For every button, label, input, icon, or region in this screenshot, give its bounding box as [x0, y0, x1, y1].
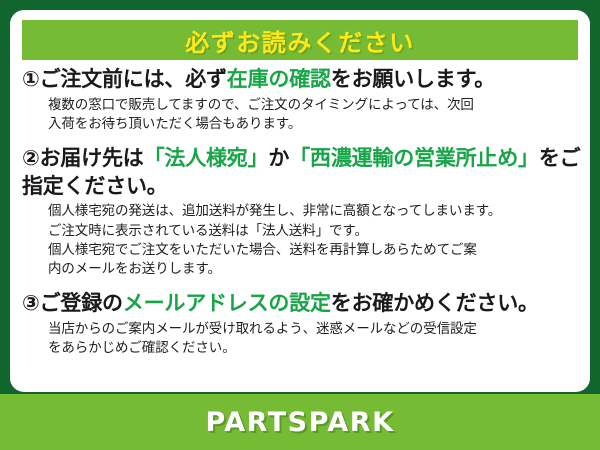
notice-item-3-heading-part-3: をお確かめください。 — [331, 291, 539, 315]
notice-item-2-note: 個人様宅宛の発送は、追加送料が発生し、非常に高額となってしまいます。ご注文時に表… — [20, 202, 582, 279]
notice-item-2-note-line-3: 個人様宅宛でご注文をいただいた場合、送料を再計算しあらためてご案 — [48, 241, 582, 260]
notice-item-1-note: 複数の窓口で販売してますので、ご注文のタイミングによっては、次回入荷をお待ち頂い… — [20, 96, 582, 134]
notice-item-2-heading-part-1: お届け先は — [40, 146, 144, 170]
notice-item-2-note-line-1: 個人様宅宛の発送は、追加送料が発生し、非常に高額となってしまいます。 — [48, 202, 582, 221]
notice-item-1-number: ① — [22, 67, 40, 91]
brand-logo-text: PARTSPARK — [205, 407, 394, 438]
notice-item-3-heading: ③ご登録のメールアドレスの設定をお確かめください。 — [20, 290, 582, 318]
notice-content: ①ご注文前には、必ず在庫の確認をお願いします。 複数の窓口で販売してますので、ご… — [10, 64, 590, 364]
notice-item-3-heading-part-1: ご登録の — [40, 291, 123, 315]
notice-item-1-note-line-2: 入荷をお待ち頂いただく場合もあります。 — [48, 115, 582, 134]
header-band: 必ずお読みください — [22, 20, 578, 60]
notice-item-1-note-line-1: 複数の窓口で販売してますので、ご注文のタイミングによっては、次回 — [48, 96, 582, 115]
notice-item-3-note-line-2: をあらかじめご確認ください。 — [48, 339, 582, 358]
notice-item-2-note-line-2: ご注文時に表示されている送料は「法人送料」です。 — [48, 222, 582, 241]
notice-item-3-number: ③ — [22, 291, 40, 315]
notice-item-2-heading: ②お届け先は「法人様宛」か「西濃運輸の営業所止め」をご指定ください。 — [20, 145, 582, 200]
notice-card: 必ずお読みください ①ご注文前には、必ず在庫の確認をお願いします。 複数の窓口で… — [10, 10, 590, 392]
page-title: 必ずお読みください — [185, 23, 415, 58]
notice-item-3: ③ご登録のメールアドレスの設定をお確かめください。 当店からのご案内メールが受け… — [20, 290, 582, 358]
notice-item-1-heading: ①ご注文前には、必ず在庫の確認をお願いします。 — [20, 66, 582, 94]
notice-item-2-number: ② — [22, 146, 40, 170]
footer-band: PARTSPARK — [0, 394, 600, 450]
notice-item-2: ②お届け先は「法人様宛」か「西濃運輸の営業所止め」をご指定ください。 個人様宅宛… — [20, 145, 582, 279]
notice-item-1-heading-part-3: をお願いします。 — [331, 67, 495, 91]
notice-item-3-heading-part-2: メールアドレスの設定 — [123, 291, 331, 315]
notice-item-3-note: 当店からのご案内メールが受け取れるよう、迷惑メールなどの受信設定をあらかじめご確… — [20, 320, 582, 358]
notice-frame: PARTSPARK 必ずお読みください ①ご注文前には、必ず在庫の確認をお願いし… — [0, 0, 600, 450]
notice-item-2-heading-part-4: 「西濃運輸の営業所止め」 — [289, 146, 539, 170]
notice-item-2-heading-part-2: 「法人様宛」 — [144, 146, 269, 170]
notice-item-3-note-line-1: 当店からのご案内メールが受け取れるよう、迷惑メールなどの受信設定 — [48, 320, 582, 339]
notice-item-1: ①ご注文前には、必ず在庫の確認をお願いします。 複数の窓口で販売してますので、ご… — [20, 66, 582, 134]
notice-item-1-heading-part-1: ご注文前には、必ず — [40, 67, 227, 91]
notice-item-1-heading-part-2: 在庫の確認 — [227, 67, 331, 91]
notice-item-2-note-line-4: 内のメールをお送りします。 — [48, 260, 582, 279]
notice-item-2-heading-part-3: か — [268, 146, 289, 170]
